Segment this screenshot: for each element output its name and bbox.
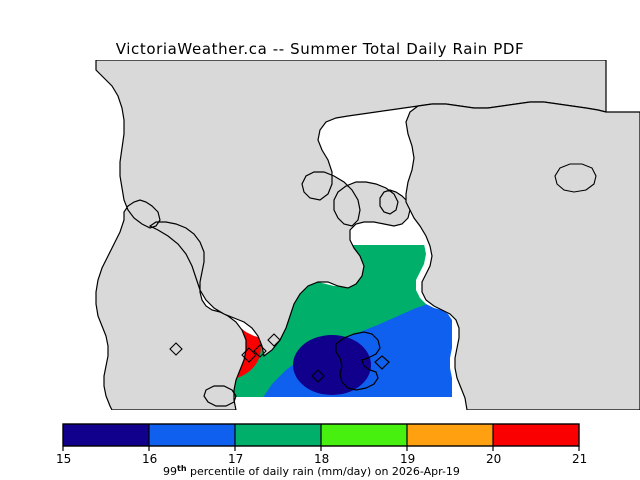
colorbar-tick-label-1: 16: [142, 452, 157, 466]
colorbar-band-15-16[interactable]: [63, 424, 149, 446]
colorbar-caption-post: percentile of daily rain (mm/day) on 202…: [187, 465, 460, 478]
colorbar-band-20-21[interactable]: [493, 424, 579, 446]
island-northeast: [555, 164, 596, 192]
colorbar-ticks: [63, 446, 579, 451]
colorbar-band-17-18[interactable]: [235, 424, 321, 446]
colorbar-caption: 99th percentile of daily rain (mm/day) o…: [163, 464, 460, 478]
colorbar-caption-pre: 99: [163, 465, 177, 478]
colorbar-tick-label-6: 21: [572, 452, 587, 466]
map-panel: [0, 60, 640, 410]
colorbar-tick-label-2: 17: [228, 452, 243, 466]
colorbar-tick-label-3: 18: [314, 452, 329, 466]
rain-contour-map: [0, 60, 640, 410]
colorbar-band-18-19[interactable]: [321, 424, 407, 446]
colorbar-band-16-17[interactable]: [149, 424, 235, 446]
colorbar-tick-label-0: 15: [56, 452, 71, 466]
contour-band-15-16: [293, 335, 371, 395]
colorbar-tick-label-4: 19: [400, 452, 415, 466]
weather-map-page: VictoriaWeather.ca -- Summer Total Daily…: [0, 0, 640, 480]
colorbar-band-19-20[interactable]: [407, 424, 493, 446]
page-title: VictoriaWeather.ca -- Summer Total Daily…: [0, 40, 640, 58]
colorbar-panel: 15 16 17 18 19 20 21 99th percentile of …: [0, 418, 640, 480]
colorbar: 15 16 17 18 19 20 21 99th percentile of …: [0, 418, 640, 480]
colorbar-caption-superscript: th: [177, 464, 187, 473]
colorbar-tick-label-5: 20: [486, 452, 501, 466]
